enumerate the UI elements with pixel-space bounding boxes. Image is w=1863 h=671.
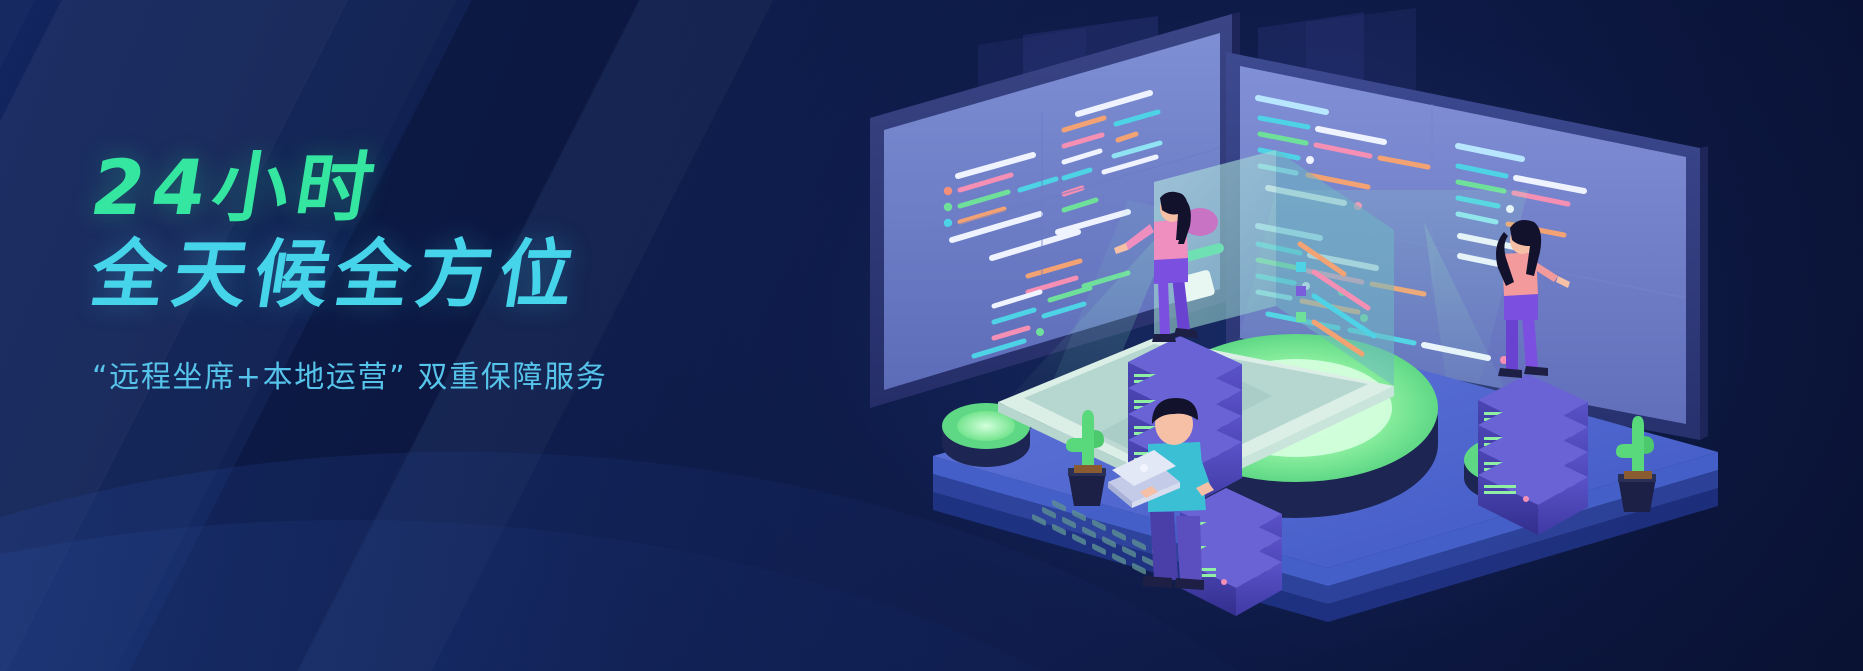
banner-subtitle: “远程坐席+本地运营” 双重保障服务 (92, 352, 812, 396)
banner-root: 24小时 全天候全方位 “远程坐席+本地运营” 双重保障服务 (0, 0, 1863, 671)
banner-copy: 24小时 全天候全方位 “远程坐席+本地运营” 双重保障服务 (92, 150, 812, 396)
headline-line-2: 全天候全方位 (86, 238, 818, 312)
server-stack-right (1478, 374, 1588, 535)
illustration-isometric-operations-scene (828, 0, 1863, 671)
headline-line-1: 24小时 (86, 150, 818, 226)
